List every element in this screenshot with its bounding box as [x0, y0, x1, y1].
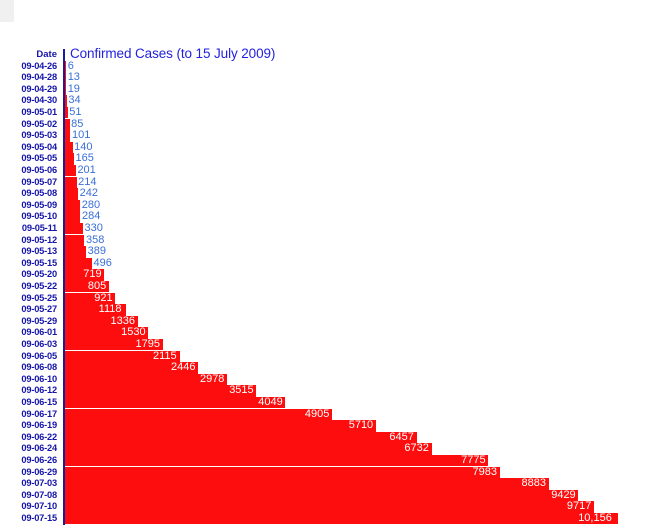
row-date-label: 09-06-10: [0, 374, 57, 386]
chart-title: Confirmed Cases (to 15 July 2009): [70, 46, 275, 61]
bar: [65, 420, 376, 432]
row-date-label: 09-06-15: [0, 397, 57, 409]
table-row: 09-05-13389: [0, 246, 666, 258]
table-row: 09-05-03101: [0, 130, 666, 142]
table-row: 09-06-011530: [0, 327, 666, 339]
row-date-label: 09-06-17: [0, 409, 57, 421]
table-row: 09-06-082446: [0, 362, 666, 374]
row-date-label: 09-05-10: [0, 211, 57, 223]
row-date-label: 09-05-13: [0, 246, 57, 258]
bar: [65, 443, 432, 455]
bar: [65, 119, 70, 131]
bar: [65, 513, 618, 525]
bar: [65, 61, 66, 73]
row-date-label: 09-05-07: [0, 177, 57, 189]
row-date-label: 09-04-28: [0, 72, 57, 84]
date-column-header: Date: [0, 49, 57, 61]
bar-value-label: 10,156: [578, 513, 612, 525]
table-row: 09-05-11330: [0, 223, 666, 235]
row-date-label: 09-06-29: [0, 467, 57, 479]
table-row: 09-06-174905: [0, 409, 666, 421]
bar: [65, 177, 77, 189]
row-date-label: 09-05-15: [0, 258, 57, 270]
row-date-label: 09-05-05: [0, 153, 57, 165]
row-date-label: 09-04-29: [0, 84, 57, 96]
bar: [65, 84, 66, 96]
table-row: 09-06-052115: [0, 351, 666, 363]
row-date-label: 09-06-08: [0, 362, 57, 374]
row-date-label: 09-06-01: [0, 327, 57, 339]
bar-value-label: 101: [72, 130, 90, 142]
table-row: 09-04-2919: [0, 84, 666, 96]
table-row: 09-05-271118: [0, 304, 666, 316]
bar: [65, 142, 73, 154]
row-date-label: 09-05-04: [0, 142, 57, 154]
table-row: 09-06-226457: [0, 432, 666, 444]
table-row: 09-05-0285: [0, 119, 666, 131]
table-row: 09-04-266: [0, 61, 666, 73]
row-date-label: 09-05-03: [0, 130, 57, 142]
row-date-label: 09-07-03: [0, 478, 57, 490]
table-row: 09-07-109717: [0, 501, 666, 513]
row-date-label: 09-04-30: [0, 95, 57, 107]
bar-value-label: 4905: [305, 409, 329, 421]
row-date-label: 09-05-22: [0, 281, 57, 293]
row-date-label: 09-06-22: [0, 432, 57, 444]
bar-value-label: 3515: [229, 385, 253, 397]
table-row: 09-06-102978: [0, 374, 666, 386]
bar-value-label: 7775: [461, 455, 485, 467]
chart-container: Date Confirmed Cases (to 15 July 2009) 0…: [0, 0, 666, 500]
row-date-label: 09-06-12: [0, 385, 57, 397]
row-date-label: 09-05-12: [0, 235, 57, 247]
bar: [65, 409, 332, 421]
row-date-label: 09-05-06: [0, 165, 57, 177]
table-row: 09-05-0151: [0, 107, 666, 119]
row-date-label: 09-05-02: [0, 119, 57, 131]
bar: [65, 165, 76, 177]
row-date-label: 09-04-26: [0, 61, 57, 73]
row-date-label: 09-06-19: [0, 420, 57, 432]
bar: [65, 385, 256, 397]
bar: [65, 211, 80, 223]
table-row: 09-05-22805: [0, 281, 666, 293]
table-row: 09-05-06201: [0, 165, 666, 177]
bar-value-label: 2978: [200, 374, 224, 386]
bar: [65, 130, 70, 142]
table-row: 09-06-297983: [0, 467, 666, 479]
bar: [65, 432, 417, 444]
bar: [65, 153, 74, 165]
bar: [65, 223, 83, 235]
bar: [65, 501, 594, 513]
bar: [65, 246, 86, 258]
bar-value-label: 201: [77, 165, 95, 177]
bar-value-label: 5710: [349, 420, 373, 432]
row-date-label: 09-05-25: [0, 293, 57, 305]
bar-value-label: 13: [68, 72, 80, 84]
bar: [65, 467, 500, 479]
row-date-label: 09-05-20: [0, 269, 57, 281]
table-row: 09-06-267775: [0, 455, 666, 467]
bar-value-label: 51: [69, 107, 81, 119]
table-row: 09-06-195710: [0, 420, 666, 432]
table-row: 09-06-246732: [0, 443, 666, 455]
bar: [65, 235, 84, 247]
bar-value-label: 389: [88, 246, 106, 258]
row-date-label: 09-07-15: [0, 513, 57, 525]
bar-value-label: 1118: [99, 304, 122, 316]
bar: [65, 95, 67, 107]
bar-value-label: 2446: [171, 362, 195, 374]
bar: [65, 200, 80, 212]
table-row: 09-05-04140: [0, 142, 666, 154]
table-row: 09-06-154049: [0, 397, 666, 409]
table-row: 09-07-038883: [0, 478, 666, 490]
table-row: 09-05-291336: [0, 316, 666, 328]
bar-value-label: 8883: [521, 478, 545, 490]
row-date-label: 09-05-27: [0, 304, 57, 316]
corner-artifact: [0, 0, 14, 22]
table-row: 09-05-07214: [0, 177, 666, 189]
bar: [65, 72, 66, 84]
bar: [65, 397, 285, 409]
table-row: 09-06-031795: [0, 339, 666, 351]
row-date-label: 09-05-09: [0, 200, 57, 212]
bar-value-label: 1795: [136, 339, 160, 351]
bar-value-label: 805: [88, 281, 106, 293]
row-date-label: 09-06-24: [0, 443, 57, 455]
row-date-label: 09-06-26: [0, 455, 57, 467]
bar: [65, 107, 68, 119]
bar-value-label: 330: [84, 223, 102, 235]
row-date-label: 09-06-03: [0, 339, 57, 351]
bar-value-label: 6732: [404, 443, 428, 455]
bar-value-label: 4049: [258, 397, 282, 409]
row-date-label: 09-05-01: [0, 107, 57, 119]
bar-value-label: 7983: [472, 467, 496, 479]
table-row: 09-06-123515: [0, 385, 666, 397]
row-date-label: 09-07-10: [0, 501, 57, 513]
bar: [65, 455, 488, 467]
row-date-label: 09-05-08: [0, 188, 57, 200]
bar-value-label: 9717: [567, 501, 591, 513]
table-row: 09-04-3034: [0, 95, 666, 107]
table-row: 09-05-08242: [0, 188, 666, 200]
bar-value-label: 242: [80, 188, 98, 200]
row-date-label: 09-05-11: [0, 223, 57, 235]
table-row: 09-05-05165: [0, 153, 666, 165]
bar: [65, 478, 549, 490]
bar: [65, 188, 78, 200]
row-date-label: 09-06-05: [0, 351, 57, 363]
row-date-label: 09-05-29: [0, 316, 57, 328]
table-row: 09-04-2813: [0, 72, 666, 84]
table-row: 09-07-1510,156: [0, 513, 666, 525]
